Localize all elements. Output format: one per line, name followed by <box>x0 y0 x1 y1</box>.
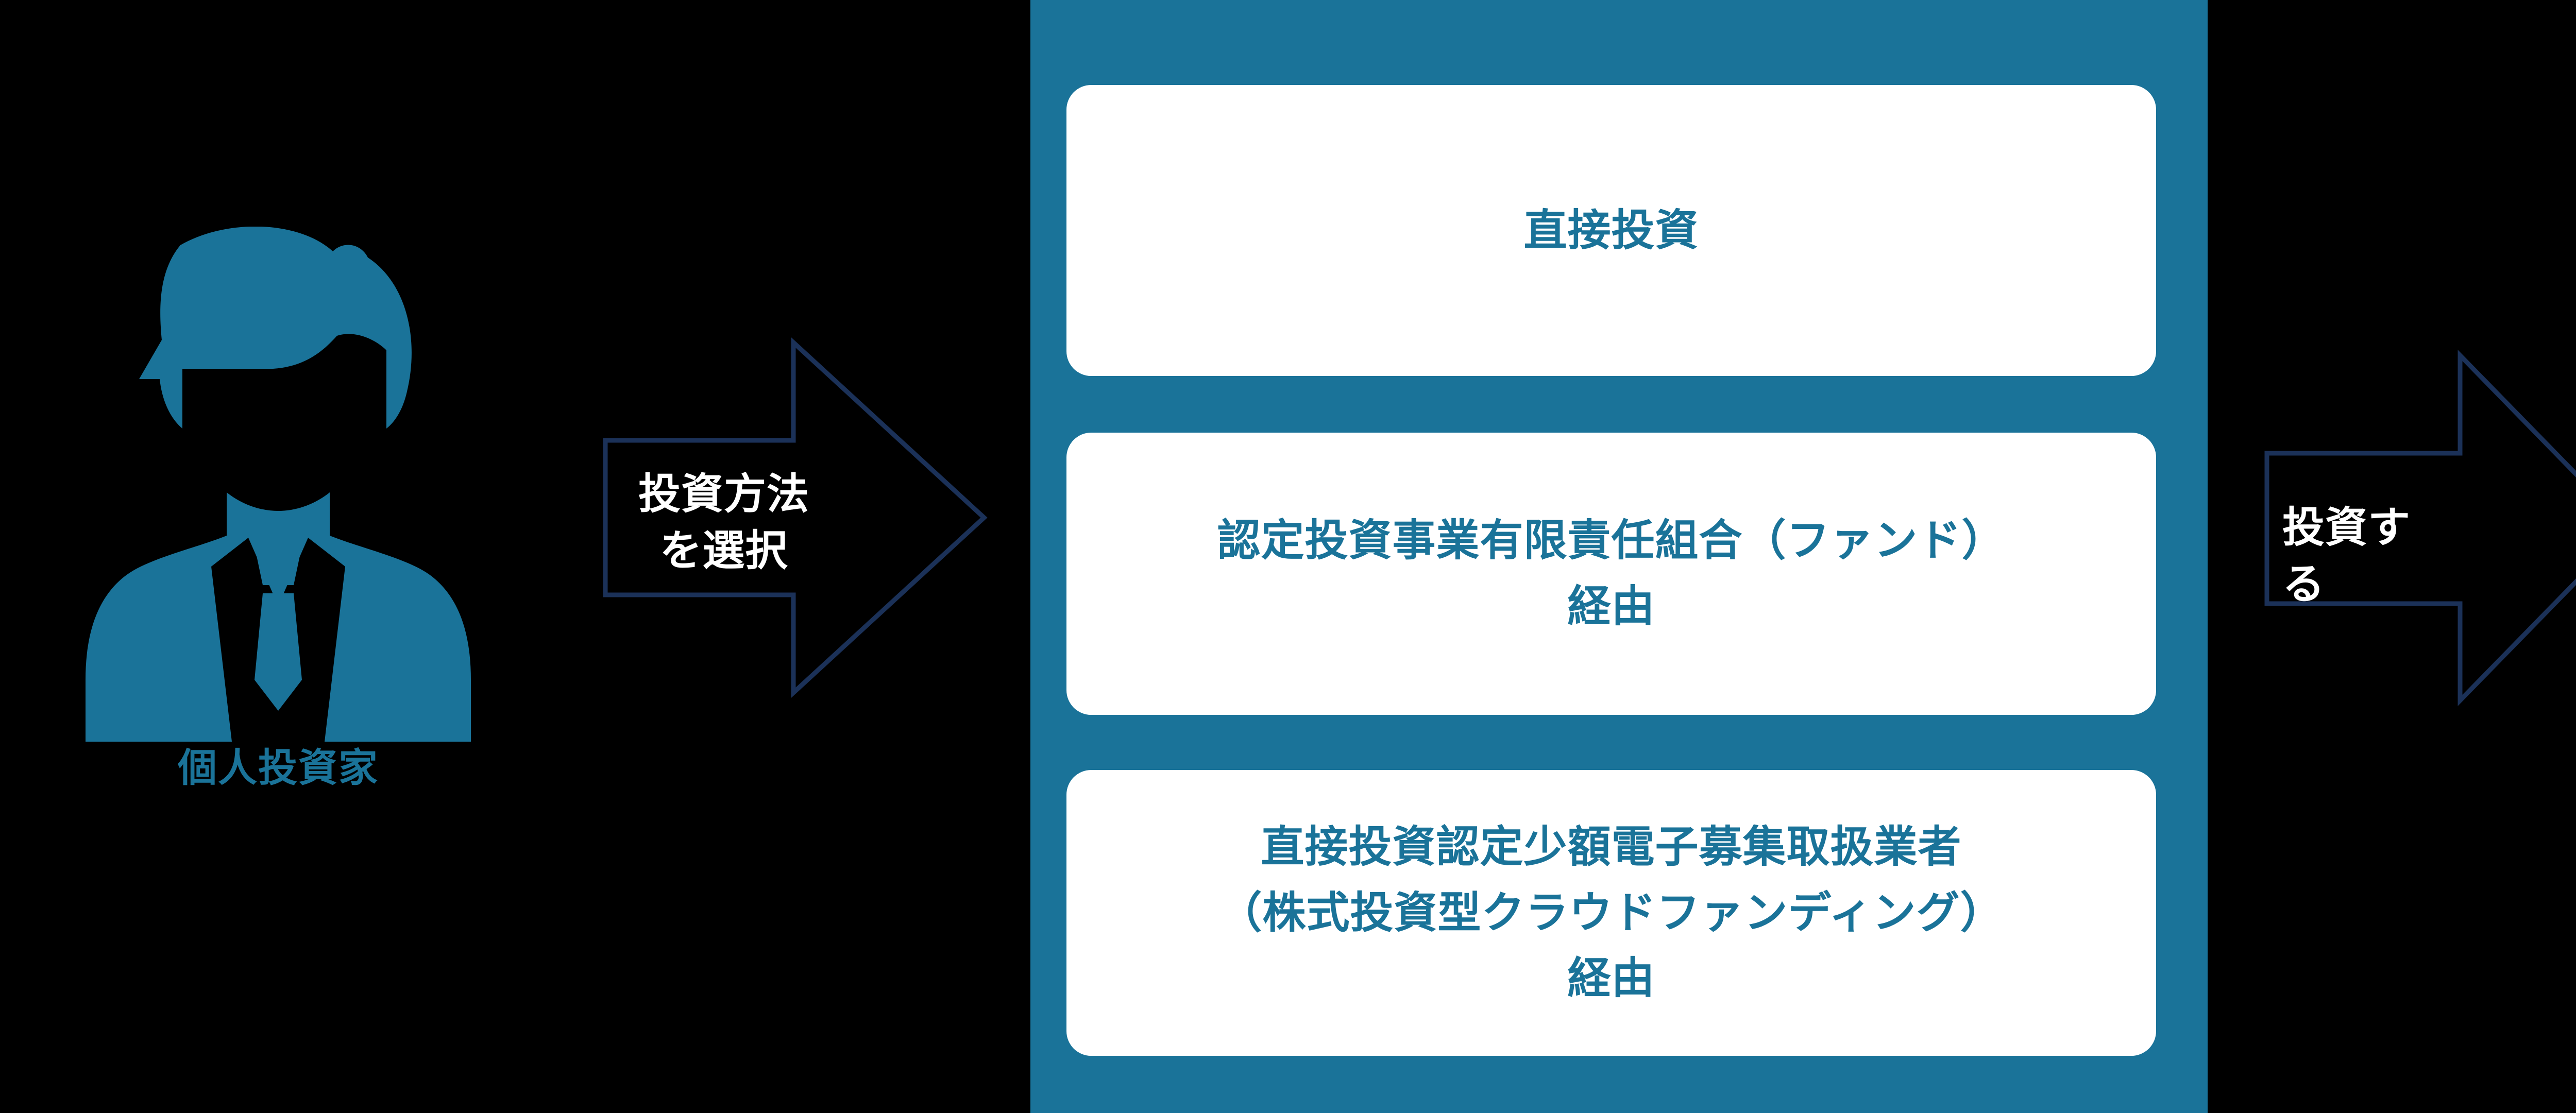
method-box-direct[interactable]: 直接投資 <box>1066 85 2156 376</box>
method-line: 経由 <box>1567 574 1655 640</box>
investor-label: 個人投資家 <box>67 747 489 790</box>
arrow-select-label: 投資方法 を選択 <box>621 466 827 579</box>
method-line: 認定投資事業有限責任組合（ファンド） <box>1217 508 2005 574</box>
arrow-invest-label: 投資する <box>2282 500 2452 613</box>
investment-methods-list: 直接投資 認定投資事業有限責任組合（ファンド） 経由 直接投資認定少額電子募集取… <box>1066 0 2156 1113</box>
investor-group: 個人投資家 <box>67 227 489 860</box>
method-line: 経由 <box>1567 946 1655 1012</box>
investor-person-icon <box>67 227 489 742</box>
method-line: 直接投資 <box>1523 198 1699 264</box>
method-box-certified-fund[interactable]: 認定投資事業有限責任組合（ファンド） 経由 <box>1066 433 2156 715</box>
method-line: （株式投資型クラウドファンディング） <box>1218 880 2004 946</box>
method-line: 直接投資認定少額電子募集取扱業者 <box>1261 814 1961 880</box>
method-box-equity-crowdfunding[interactable]: 直接投資認定少額電子募集取扱業者 （株式投資型クラウドファンディング） 経由 <box>1066 770 2156 1056</box>
